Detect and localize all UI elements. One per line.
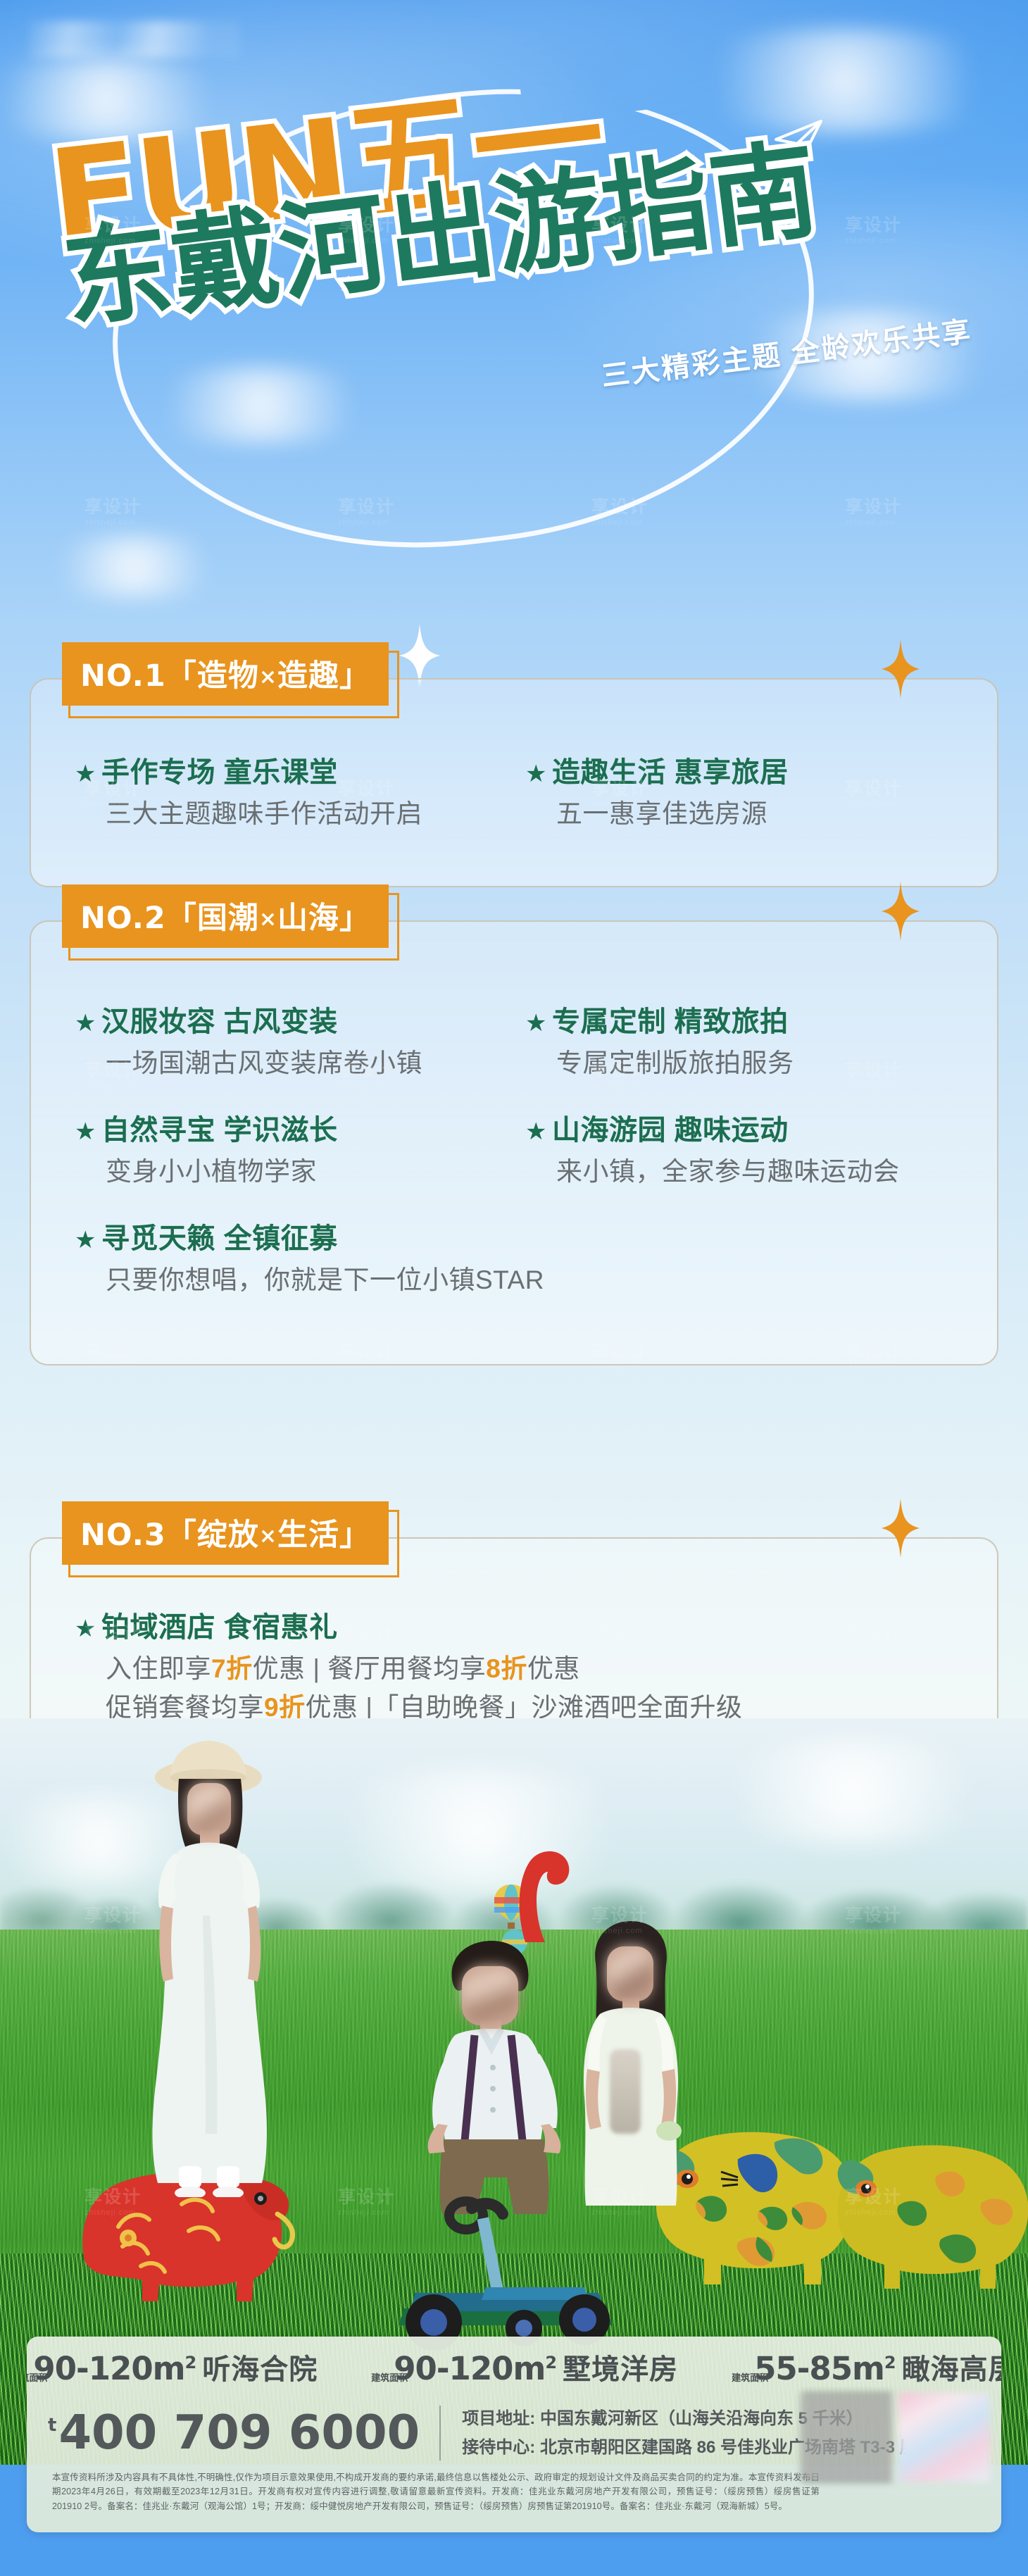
product-area: 90-120m2 xyxy=(394,2350,556,2387)
badge-x-3: × xyxy=(259,1524,277,1549)
feature-title-text: 造趣生活 惠享旅居 xyxy=(552,757,789,788)
product-name: 墅境洋房 xyxy=(563,2346,678,2387)
feature-desc: 五一惠享佳选房源 xyxy=(556,796,789,833)
star-icon: ★ xyxy=(75,1010,96,1037)
feature-item: ★造趣生活 惠享旅居 五一惠享佳选房源 xyxy=(525,756,789,833)
star-icon: ★ xyxy=(525,761,547,787)
badge-a-2: 国潮 xyxy=(197,901,259,936)
face-blur-man xyxy=(462,1966,518,2025)
feature-title: ★寻觅天籁 全镇征募 xyxy=(75,1222,544,1256)
badge-x-2: × xyxy=(259,907,277,932)
product-type-item: 建筑面积 90-120m2 听海合院 xyxy=(27,2346,318,2387)
footer-product-types: 建筑面积 90-120m2 听海合院 建筑面积 90-120m2 墅境洋房 建筑… xyxy=(27,2346,1001,2387)
discount-8: 8折 xyxy=(486,1654,527,1683)
feature-title: ★自然寻宝 学识滋长 xyxy=(75,1113,338,1147)
yellow-elephant-sculpture-2 xyxy=(831,2127,1028,2292)
photo-cloud-2 xyxy=(690,1739,1014,1845)
badge-a-1: 造物 xyxy=(197,658,259,694)
badge-open-3: 「 xyxy=(166,1518,197,1553)
product-prefix: 建筑面积 xyxy=(371,2373,392,2382)
section-badge-1[interactable]: NO.1「造物×造趣」 xyxy=(62,642,389,706)
badge-b-2: 山海 xyxy=(277,901,339,936)
section-badge-2[interactable]: NO.2「国潮×山海」 xyxy=(62,884,389,948)
feature-desc: 只要你想唱，你就是下一位小镇STAR xyxy=(106,1262,544,1299)
badge-no-1: NO.1 xyxy=(80,658,166,694)
sparkle-orange-icon-1 xyxy=(882,639,920,699)
feature-title-text: 寻觅天籁 全镇征募 xyxy=(101,1223,338,1254)
feature-title-text: 自然寻宝 学识滋长 xyxy=(101,1115,338,1146)
star-icon: ★ xyxy=(75,1118,96,1145)
feature-item: ★山海游园 趣味运动 来小镇，全家参与趣味运动会 xyxy=(525,1113,900,1191)
feature-item: ★铂域酒店 食宿惠礼 入住即享7折优惠 | 餐厅用餐均享8折优惠 促销套餐均享9… xyxy=(75,1611,742,1726)
star-icon: ★ xyxy=(75,761,96,787)
face-blur-woman xyxy=(187,1783,231,1835)
badge-close-3: 」 xyxy=(339,1518,370,1553)
brand-logo-blurred xyxy=(28,21,239,58)
badge-open-1: 「 xyxy=(166,658,197,694)
feature-item: ★自然寻宝 学识滋长 变身小小植物学家 xyxy=(75,1113,338,1191)
badge-no-3: NO.3 xyxy=(80,1518,166,1553)
discount-7: 7折 xyxy=(211,1654,253,1683)
feature-title: ★专属定制 精致旅拍 xyxy=(525,1005,794,1039)
product-prefix: 建筑面积 xyxy=(27,2373,32,2382)
person-woman xyxy=(127,1739,289,2197)
sparkle-orange-icon-3 xyxy=(882,1499,920,1558)
feature-desc: 三大主题趣味手作活动开启 xyxy=(106,796,422,833)
star-icon: ★ xyxy=(525,1118,547,1145)
badge-b-3: 生活 xyxy=(277,1518,339,1553)
feature-title-text: 山海游园 趣味运动 xyxy=(552,1115,789,1146)
badge-b-1: 造趣 xyxy=(277,658,339,694)
tel-number: 400 709 6000 xyxy=(58,2411,420,2456)
badge-open-2: 「 xyxy=(166,901,197,936)
badge-a-3: 绽放 xyxy=(197,1518,259,1553)
sparkle-orange-icon-2 xyxy=(882,882,920,941)
section-badge-3[interactable]: NO.3「绽放×生活」 xyxy=(62,1501,389,1565)
feature-desc: 变身小小植物学家 xyxy=(106,1153,338,1191)
feature-item: ★汉服妆容 古风变装 一场国潮古风变装席卷小镇 xyxy=(75,1005,422,1082)
feature-desc: 一场国潮古风变装席卷小镇 xyxy=(106,1045,422,1082)
feature-item: ★手作专场 童乐课堂 三大主题趣味手作活动开启 xyxy=(75,756,422,833)
product-type-item: 建筑面积 90-120m2 墅境洋房 xyxy=(371,2346,678,2387)
product-area: 55-85m2 xyxy=(754,2350,896,2387)
feature-title: ★铂域酒店 食宿惠礼 xyxy=(75,1611,742,1644)
feature-title-text: 专属定制 精致旅拍 xyxy=(552,1006,789,1037)
star-icon: ★ xyxy=(525,1010,547,1037)
background-figure xyxy=(610,2049,641,2134)
feature-title: ★手作专场 童乐课堂 xyxy=(75,756,422,789)
product-name: 瞰海高层 xyxy=(902,2346,1001,2387)
badge-x-1: × xyxy=(259,665,277,689)
badge-no-2: NO.2 xyxy=(80,901,166,936)
feature-title-text: 手作专场 童乐课堂 xyxy=(101,757,338,788)
product-prefix: 建筑面积 xyxy=(732,2373,753,2382)
feature-title-text: 铂域酒店 食宿惠礼 xyxy=(101,1612,338,1643)
product-area: 90-120m2 xyxy=(33,2350,196,2387)
feature-title: ★山海游园 趣味运动 xyxy=(525,1113,900,1147)
badge-close-2: 」 xyxy=(339,901,370,936)
product-name: 听海合院 xyxy=(202,2346,318,2387)
star-icon: ★ xyxy=(75,1615,96,1642)
product-type-item: 建筑面积 55-85m2 瞰海高层 xyxy=(732,2346,1001,2387)
go-kart-vehicle xyxy=(373,2162,669,2352)
discount-9: 9折 xyxy=(264,1693,306,1722)
qr-codes[interactable] xyxy=(801,2393,990,2482)
badge-close-1: 」 xyxy=(339,658,370,694)
legal-disclaimer: 本宣传资料所涉及内容具有不具体性,不明确性,仅作为项目示意效果使用,不构成开发商… xyxy=(52,2470,820,2513)
feature-item: ★寻觅天籁 全镇征募 只要你想唱，你就是下一位小镇STAR xyxy=(75,1222,544,1299)
feature-title: ★汉服妆容 古风变装 xyxy=(75,1005,422,1039)
feature-desc: 专属定制版旅拍服务 xyxy=(556,1045,794,1082)
tel-label: t xyxy=(48,2415,56,2436)
feature-title: ★造趣生活 惠享旅居 xyxy=(525,756,789,789)
poster-root: FUN五一 东戴河出游指南 三大精彩主题 全龄欢乐共享 NO.1「造物×造趣」 … xyxy=(0,0,1028,2576)
phone-block[interactable]: t 400 709 6000 xyxy=(48,2411,420,2456)
section-card-2: ★汉服妆容 古风变装 一场国潮古风变装席卷小镇 ★专属定制 精致旅拍 专属定制版… xyxy=(30,920,998,1365)
star-icon: ★ xyxy=(75,1227,96,1253)
divider xyxy=(439,2406,441,2461)
qr-code-1[interactable] xyxy=(801,2393,893,2482)
feature-desc: 来小镇，全家参与趣味运动会 xyxy=(556,1153,900,1191)
feature-item: ★专属定制 精致旅拍 专属定制版旅拍服务 xyxy=(525,1005,794,1082)
qr-code-2[interactable] xyxy=(898,2393,990,2482)
footer-panel: 建筑面积 90-120m2 听海合院 建筑面积 90-120m2 墅境洋房 建筑… xyxy=(27,2337,1001,2532)
feature-desc-rich-line1: 入住即享7折优惠 | 餐厅用餐均享8折优惠 xyxy=(106,1651,742,1688)
headline-block: FUN五一 东戴河出游指南 三大精彩主题 全龄欢乐共享 xyxy=(0,85,1028,648)
face-blur-girl xyxy=(607,1946,653,2001)
feature-title-text: 汉服妆容 古风变装 xyxy=(101,1006,338,1037)
